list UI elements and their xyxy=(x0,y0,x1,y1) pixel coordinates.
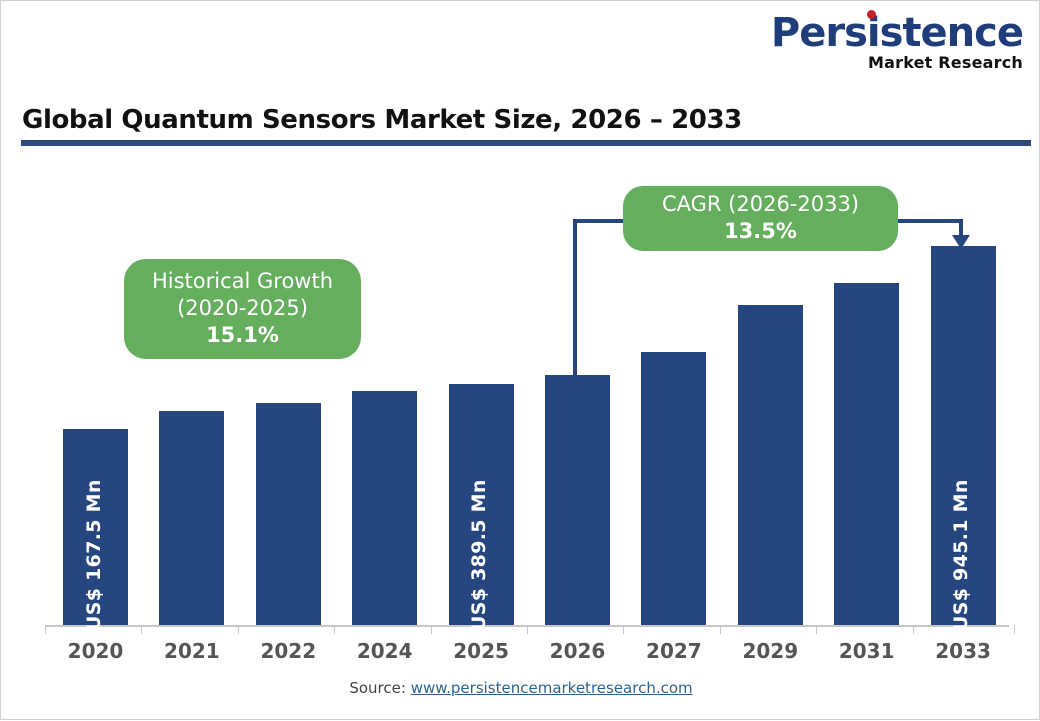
tick-2033 xyxy=(913,625,914,634)
source-link[interactable]: www.persistencemarketresearch.com xyxy=(411,679,693,697)
x-tick-label-2024: 2024 xyxy=(335,639,435,663)
chart-canvas: Persistence Market Research Global Quant… xyxy=(0,0,1040,720)
source-footer: Source: www.persistencemarketresearch.co… xyxy=(1,679,1040,697)
historical-growth-line1: Historical Growth xyxy=(152,268,333,295)
x-tick-label-2031: 2031 xyxy=(817,639,917,663)
bar-value-label-2025: US$ 389.5 Mn xyxy=(468,479,490,631)
historical-growth-callout: Historical Growth (2020-2025) 15.1% xyxy=(124,259,361,359)
cagr-callout: CAGR (2026-2033) 13.5% xyxy=(623,186,898,251)
x-tick-label-2020: 2020 xyxy=(46,639,146,663)
bar-2022 xyxy=(256,403,321,625)
bar-2029 xyxy=(738,305,803,625)
cagr-value: 13.5% xyxy=(724,218,797,245)
tick-2025 xyxy=(431,625,432,634)
source-prefix: Source: xyxy=(349,679,406,697)
x-tick-label-2029: 2029 xyxy=(720,639,820,663)
plot-area: US$ 167.5 MnUS$ 389.5 MnUS$ 945.1 Mn 202… xyxy=(1,1,1040,721)
bar-2031 xyxy=(834,283,899,625)
bar-2021 xyxy=(159,411,224,625)
cagr-line1: CAGR (2026-2033) xyxy=(662,191,859,218)
tick-2022 xyxy=(238,625,239,634)
historical-growth-value: 15.1% xyxy=(206,322,279,349)
tick-end xyxy=(1014,625,1015,634)
tick-2027 xyxy=(623,625,624,634)
x-tick-label-2033: 2033 xyxy=(913,639,1013,663)
x-tick-label-2026: 2026 xyxy=(528,639,628,663)
tick-2026 xyxy=(527,625,528,634)
bar-value-label-2020: US$ 167.5 Mn xyxy=(83,479,105,631)
tick-2024 xyxy=(334,625,335,634)
x-tick-label-2021: 2021 xyxy=(142,639,242,663)
tick-2031 xyxy=(816,625,817,634)
tick-2020 xyxy=(45,625,46,634)
x-tick-label-2027: 2027 xyxy=(624,639,724,663)
x-tick-label-2025: 2025 xyxy=(431,639,531,663)
x-tick-label-2022: 2022 xyxy=(238,639,338,663)
bar-2027 xyxy=(641,352,706,625)
bar-2024 xyxy=(352,391,417,625)
historical-growth-line2: (2020-2025) xyxy=(177,295,308,322)
tick-2029 xyxy=(720,625,721,634)
bar-2026 xyxy=(545,375,610,625)
tick-2021 xyxy=(141,625,142,634)
cagr-arrow-icon xyxy=(952,235,970,249)
bar-value-label-2033: US$ 945.1 Mn xyxy=(950,479,972,631)
cagr-connector-left xyxy=(573,219,577,377)
